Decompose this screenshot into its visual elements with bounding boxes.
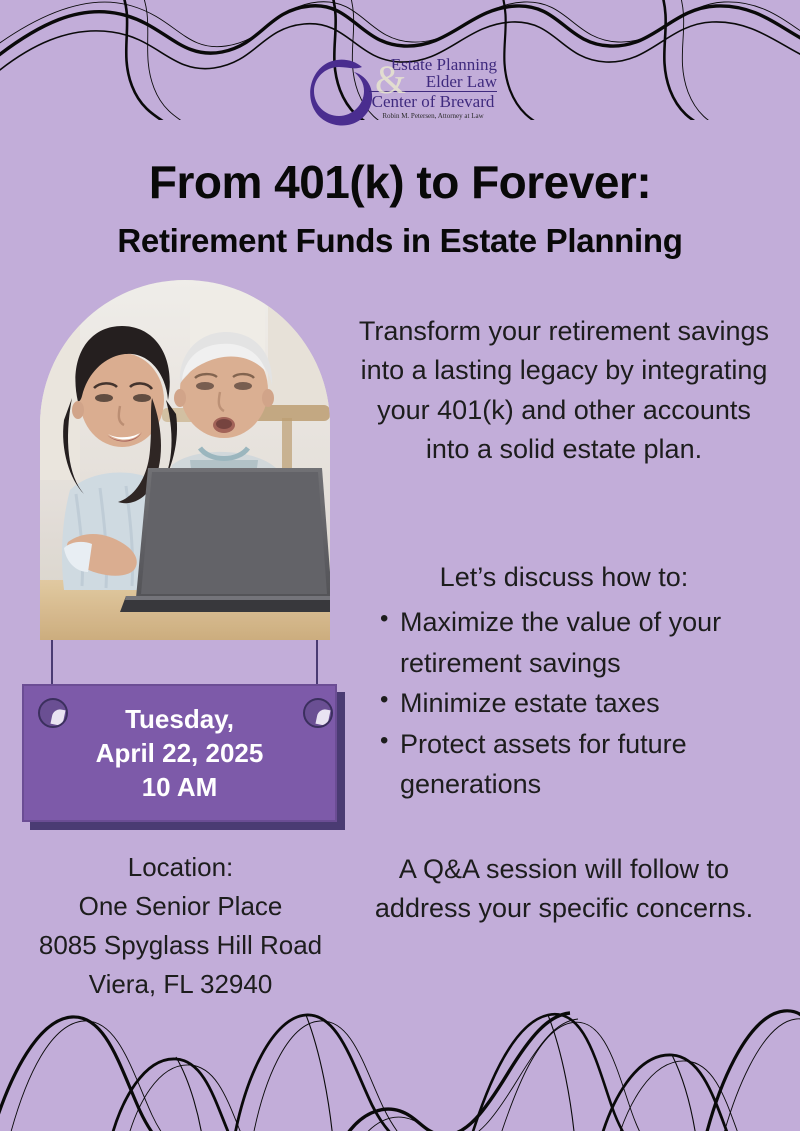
- lets-discuss-heading: Let’s discuss how to:: [352, 562, 776, 593]
- logo-ampersand: &: [375, 60, 406, 100]
- decorative-wave-lines-bottom: [0, 1001, 800, 1131]
- location-venue: One Senior Place: [8, 887, 353, 926]
- event-photo: [40, 280, 330, 640]
- location-citystate: Viera, FL 32940: [8, 965, 353, 1004]
- sign-time: 10 AM: [142, 770, 218, 804]
- intro-paragraph: Transform your retirement savings into a…: [352, 312, 776, 470]
- company-logo: & Estate Planning Elder Law Center of Br…: [0, 52, 800, 138]
- list-item: Maximize the value of your retirement sa…: [378, 602, 778, 683]
- logo-attorney-name: Robin M. Petersen, Attorney at Law: [369, 112, 497, 120]
- location-block: Location: One Senior Place 8085 Spyglass…: [8, 848, 353, 1004]
- qa-note: A Q&A session will follow to address you…: [352, 850, 776, 929]
- sign-date: April 22, 2025: [96, 736, 264, 770]
- sign-ring-right-icon: [303, 698, 333, 728]
- location-label: Location:: [8, 848, 353, 887]
- flyer-subtitle: Retirement Funds in Estate Planning: [0, 222, 800, 260]
- list-item: Minimize estate taxes: [378, 683, 778, 724]
- date-sign: Tuesday, April 22, 2025 10 AM: [22, 684, 337, 822]
- location-street: 8085 Spyglass Hill Road: [8, 926, 353, 965]
- flyer-poster: & Estate Planning Elder Law Center of Br…: [0, 0, 800, 1131]
- sign-day: Tuesday,: [125, 702, 234, 736]
- sign-ring-left-icon: [38, 698, 68, 728]
- flyer-title: From 401(k) to Forever:: [0, 155, 800, 209]
- topics-list: Maximize the value of your retirement sa…: [378, 602, 778, 805]
- list-item: Protect assets for future generations: [378, 724, 778, 805]
